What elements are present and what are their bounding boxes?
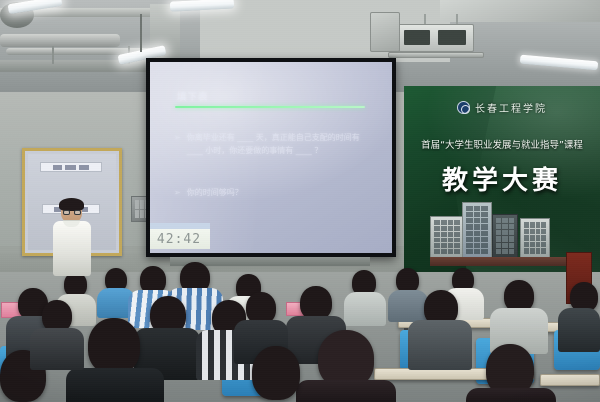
campus-photo-base — [430, 257, 580, 266]
event-banner: 长春工程学院 首届“大学生职业发展与就业指导”课程 教学大赛 — [404, 86, 600, 272]
slide-divider-rule — [175, 106, 365, 108]
slide-bullet-2: ➢ 你的时间够吗？ — [174, 187, 364, 200]
banner-school-name: 长春工程学院 — [475, 100, 547, 115]
audience-head — [300, 286, 332, 320]
campus-building-center — [462, 202, 492, 258]
ceiling-duct — [0, 34, 120, 47]
banner-event-title: 教学大赛 — [404, 160, 600, 197]
projection-screen-frame: 填下表 ➢ 你离毕业还有 ____ 天，真正能自己支配的时间有 ____ 小时，… — [146, 58, 396, 257]
slide-title: 填下表 — [177, 89, 209, 103]
building-windows — [434, 220, 460, 254]
audience-head — [252, 346, 300, 400]
audience-torso — [344, 292, 386, 326]
school-crest-icon — [457, 101, 470, 114]
audience-torso — [296, 380, 396, 402]
ceiling-projector — [396, 24, 474, 52]
banner-course-line: 首届“大学生职业发展与就业指导”课程 — [407, 137, 597, 151]
building-windows — [524, 222, 546, 254]
banner-logo-row: 长春工程学院 — [404, 100, 600, 115]
presenter — [52, 200, 92, 276]
campus-building-left — [430, 216, 464, 258]
classroom-photo: 填下表 ➢ 你离毕业还有 ____ 天，真正能自己支配的时间有 ____ 小时，… — [0, 0, 600, 402]
audience-torso — [388, 290, 428, 322]
countdown-timer: 42:42 — [150, 223, 210, 249]
projector-vent-left — [404, 30, 430, 45]
audience-torso — [558, 308, 600, 352]
slide-bullet-1: ➢ 你离毕业还有 ____ 天，真正能自己支配的时间有 ____ 小时，你还要做… — [174, 132, 374, 158]
desk-row-front-right — [540, 374, 600, 386]
projection-screen: 填下表 ➢ 你离毕业还有 ____ 天，真正能自己支配的时间有 ____ 小时，… — [150, 62, 392, 253]
slide-bullet-1-text: 你离毕业还有 ____ 天，真正能自己支配的时间有 ____ 小时，你还要做的事… — [187, 132, 374, 158]
audience-head — [88, 318, 140, 374]
audience-torso — [466, 388, 556, 402]
notice-board-header-label — [40, 162, 102, 172]
audience-torso — [66, 368, 164, 402]
presenter-torso — [53, 221, 91, 276]
bullet-marker-icon: ➢ — [174, 132, 181, 158]
light-hanger-rod — [140, 14, 142, 52]
bullet-marker-icon: ➢ — [174, 187, 181, 200]
slide-bullet-2-text: 你的时间够吗？ — [187, 187, 243, 200]
building-windows — [496, 218, 514, 254]
ceiling-hanger-left — [52, 46, 54, 64]
building-windows — [466, 206, 488, 254]
audience-torso — [408, 320, 472, 370]
projector-vent-right — [438, 30, 466, 45]
ceiling-beam-right — [440, 0, 600, 22]
countdown-timer-value: 42:42 — [157, 232, 201, 247]
campus-building-right — [520, 218, 550, 258]
audience-torso — [30, 328, 84, 370]
presenter-glasses-icon — [63, 210, 81, 215]
projector-bracket — [388, 52, 484, 58]
ceiling-rail — [370, 12, 400, 52]
campus-building-dark — [492, 214, 518, 258]
campus-building-photo — [430, 196, 580, 266]
